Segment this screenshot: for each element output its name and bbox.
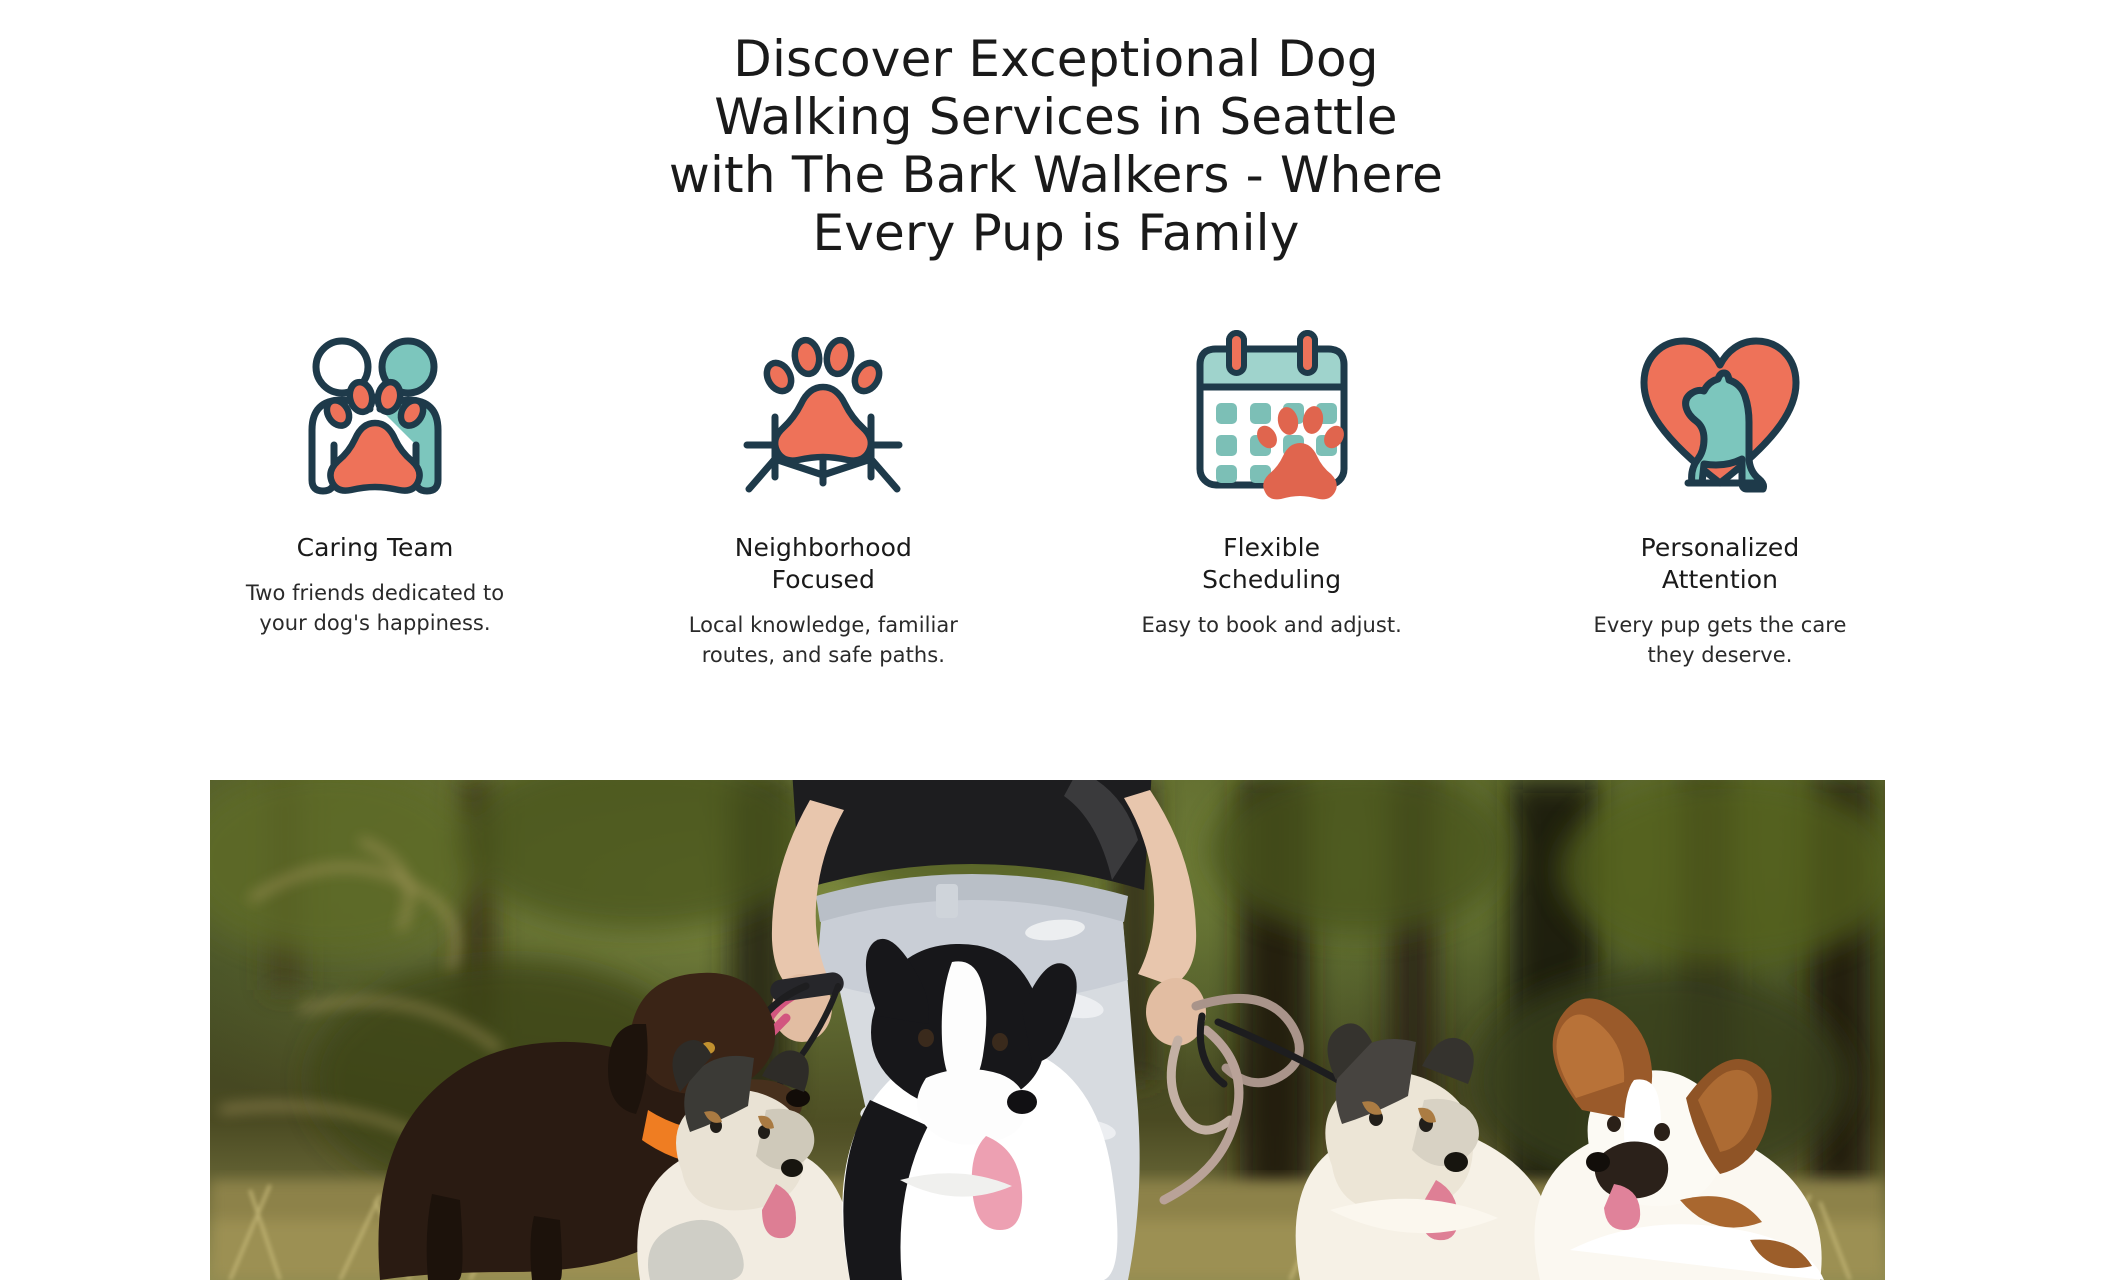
feature-title: Flexible Scheduling — [1157, 532, 1387, 596]
paw-map-routes-icon — [733, 325, 913, 500]
feature-description: Easy to book and adjust. — [1141, 610, 1401, 640]
heart-dog-icon — [1630, 325, 1810, 500]
feature-title: Personalized Attention — [1605, 532, 1835, 596]
feature-title: Caring Team — [297, 532, 454, 564]
feature-description: Two friends dedicated to your dog's happ… — [230, 578, 520, 639]
two-people-paw-icon — [285, 325, 465, 500]
feature-title: Neighborhood Focused — [708, 532, 938, 596]
feature-card-neighborhood-focused: Neighborhood Focused Local knowledge, fa… — [658, 325, 988, 671]
feature-card-flexible-scheduling: Flexible Scheduling Easy to book and adj… — [1107, 325, 1437, 640]
feature-description: Local knowledge, familiar routes, and sa… — [678, 610, 968, 671]
feature-card-caring-team: Caring Team Two friends dedicated to you… — [210, 325, 540, 639]
feature-card-personalized-attention: Personalized Attention Every pup gets th… — [1555, 325, 1885, 671]
calendar-paw-icon — [1182, 325, 1362, 500]
landing-page: Discover Exceptional Dog Walking Service… — [0, 0, 2112, 1280]
feature-list: Caring Team Two friends dedicated to you… — [210, 325, 1885, 671]
hero-photo — [210, 780, 1885, 1280]
page-title: Discover Exceptional Dog Walking Service… — [656, 30, 1456, 262]
feature-description: Every pup gets the care they deserve. — [1575, 610, 1865, 671]
